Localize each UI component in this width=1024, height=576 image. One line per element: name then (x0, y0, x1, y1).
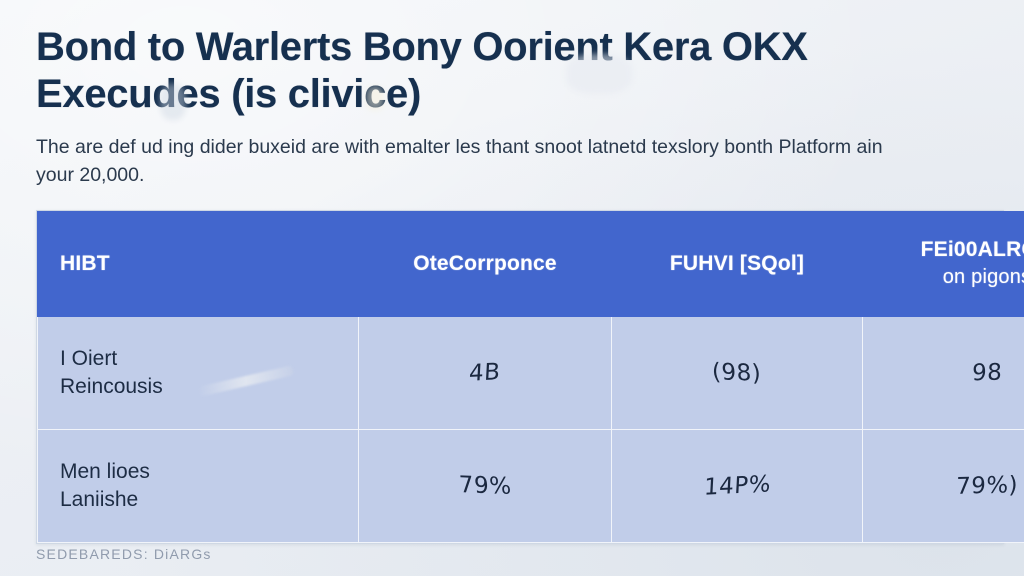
column-header-fuhvi-sqol-line1: FUHVI [SQol] (622, 252, 852, 276)
cell-value-text: (98) (712, 359, 763, 387)
table-cell-value: 79%) (863, 429, 1024, 542)
column-header-otecorrponce-line1: OteCorrponce (369, 252, 601, 276)
column-header-fuhvi-sqol[interactable]: FUHVI [SQol] (612, 211, 863, 316)
column-header-otecorrponce[interactable]: OteCorrponce (359, 211, 612, 316)
row-label-cell: Men lioes Laniishe (38, 429, 359, 542)
slide-subtitle: The are def ud ing dider buxeid are with… (36, 134, 916, 189)
column-header-hibt[interactable]: HIBT (38, 211, 359, 316)
table-row[interactable]: Men lioes Laniishe 79% 14P% 79%) (38, 429, 1024, 542)
table-cell-value: 98 (863, 316, 1024, 429)
cell-value-text: 79% (458, 472, 512, 500)
table-cell-value: 79% (359, 429, 612, 542)
table-cell-value: 14P% (612, 429, 863, 542)
table-header-row: HIBT OteCorrponce FUHVI [SQol] FEi0 (38, 211, 1024, 316)
row-label-line2: Reincousis (60, 373, 336, 401)
row-label-line2: Laniishe (60, 486, 336, 514)
comparison-table-container: HIBT OteCorrponce FUHVI [SQol] FEi0 (36, 210, 1004, 544)
cell-value-text: 14P% (703, 471, 771, 501)
table-row[interactable]: I Oiert Reincousis 4B (98) 98 (38, 316, 1024, 429)
row-label-line1: Men lioes (60, 458, 336, 486)
cell-value-text: 98 (972, 359, 1003, 386)
column-header-fei00alron-line1: FEi00ALRON (873, 238, 1024, 262)
column-header-fei00alron-line2: on pigons (873, 266, 1024, 289)
table-cell-value: 4B (359, 316, 612, 429)
slide-content: Bond to Warlerts Bony Oorient Kera OKX E… (0, 0, 1024, 544)
slide-canvas: Bond to Warlerts Bony Oorient Kera OKX E… (0, 0, 1024, 576)
cell-value-text: 4B (469, 359, 502, 387)
page-title: Bond to Warlerts Bony Oorient Kera OKX E… (36, 24, 916, 118)
row-label-line1: I Oiert (60, 345, 336, 373)
column-header-hibt-line1: HIBT (60, 252, 336, 276)
table-header: HIBT OteCorrponce FUHVI [SQol] FEi0 (38, 211, 1024, 316)
footer-note: SEDEBAREDS: DiARGs (36, 546, 212, 562)
table-body: I Oiert Reincousis 4B (98) 98 (38, 316, 1024, 542)
cell-value-text: 79%) (956, 472, 1019, 500)
column-header-fei00alron[interactable]: FEi00ALRON on pigons (863, 211, 1024, 316)
row-label-cell: I Oiert Reincousis (38, 316, 359, 429)
table-cell-value: (98) (612, 316, 863, 429)
comparison-table: HIBT OteCorrponce FUHVI [SQol] FEi0 (37, 211, 1024, 543)
